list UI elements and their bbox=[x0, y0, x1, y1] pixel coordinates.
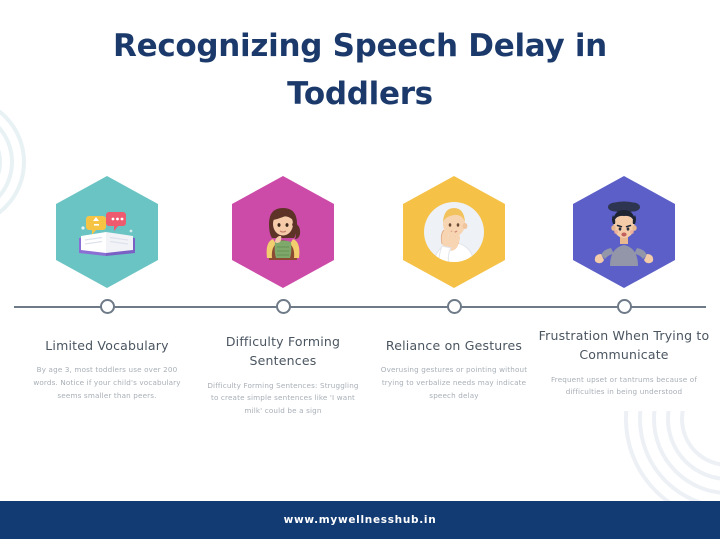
hexagon-cell-2 bbox=[193, 176, 373, 288]
column-1: Limited Vocabulary By age 3, most toddle… bbox=[21, 336, 193, 402]
open-book-with-speech-bubbles-icon bbox=[73, 198, 141, 266]
column-3-heading: Reliance on Gestures bbox=[368, 336, 540, 355]
column-1-heading: Limited Vocabulary bbox=[21, 336, 193, 355]
timeline-node-1[interactable] bbox=[100, 299, 115, 314]
title-line-2: Toddlers bbox=[0, 70, 720, 118]
hexagon-shape-2 bbox=[232, 176, 334, 288]
child-gesturing-icon bbox=[420, 198, 488, 266]
column-4: Frustration When Trying to Communicate F… bbox=[538, 326, 710, 399]
hexagon-cell-3 bbox=[364, 176, 544, 288]
page-title: Recognizing Speech Delay in Toddlers bbox=[0, 22, 720, 118]
column-2-heading: Difficulty Forming Sentences bbox=[197, 332, 369, 371]
hexagon-shape-3 bbox=[403, 176, 505, 288]
infographic-poster: Recognizing Speech Delay in Toddlers bbox=[0, 0, 720, 539]
hexagon-shape-4 bbox=[573, 176, 675, 288]
column-4-heading: Frustration When Trying to Communicate bbox=[538, 326, 710, 365]
frustrated-child-with-storm-cloud-icon bbox=[590, 198, 658, 266]
column-2-body: Difficulty Forming Sentences: Struggling… bbox=[197, 380, 369, 418]
hexagon-cell-1 bbox=[17, 176, 197, 288]
timeline-node-2[interactable] bbox=[276, 299, 291, 314]
column-text-row: Limited Vocabulary By age 3, most toddle… bbox=[0, 336, 720, 456]
footer-bar: www.mywellnesshub.in bbox=[0, 501, 720, 539]
column-1-body: By age 3, most toddlers use over 200 wor… bbox=[21, 364, 193, 402]
girl-thinking-icon bbox=[249, 198, 317, 266]
website-url[interactable]: www.mywellnesshub.in bbox=[284, 514, 437, 526]
column-3-body: Overusing gestures or pointing without t… bbox=[368, 364, 540, 402]
timeline-node-4[interactable] bbox=[617, 299, 632, 314]
hexagon-shape-1 bbox=[56, 176, 158, 288]
hexagon-cell-4 bbox=[534, 176, 714, 288]
timeline-track bbox=[14, 306, 706, 308]
hexagon-icon-row bbox=[0, 176, 720, 288]
column-4-body: Frequent upset or tantrums because of di… bbox=[538, 374, 710, 399]
column-3: Reliance on Gestures Overusing gestures … bbox=[368, 336, 540, 402]
column-2: Difficulty Forming Sentences Difficulty … bbox=[197, 332, 369, 418]
timeline-node-3[interactable] bbox=[447, 299, 462, 314]
title-line-1: Recognizing Speech Delay in bbox=[0, 22, 720, 70]
